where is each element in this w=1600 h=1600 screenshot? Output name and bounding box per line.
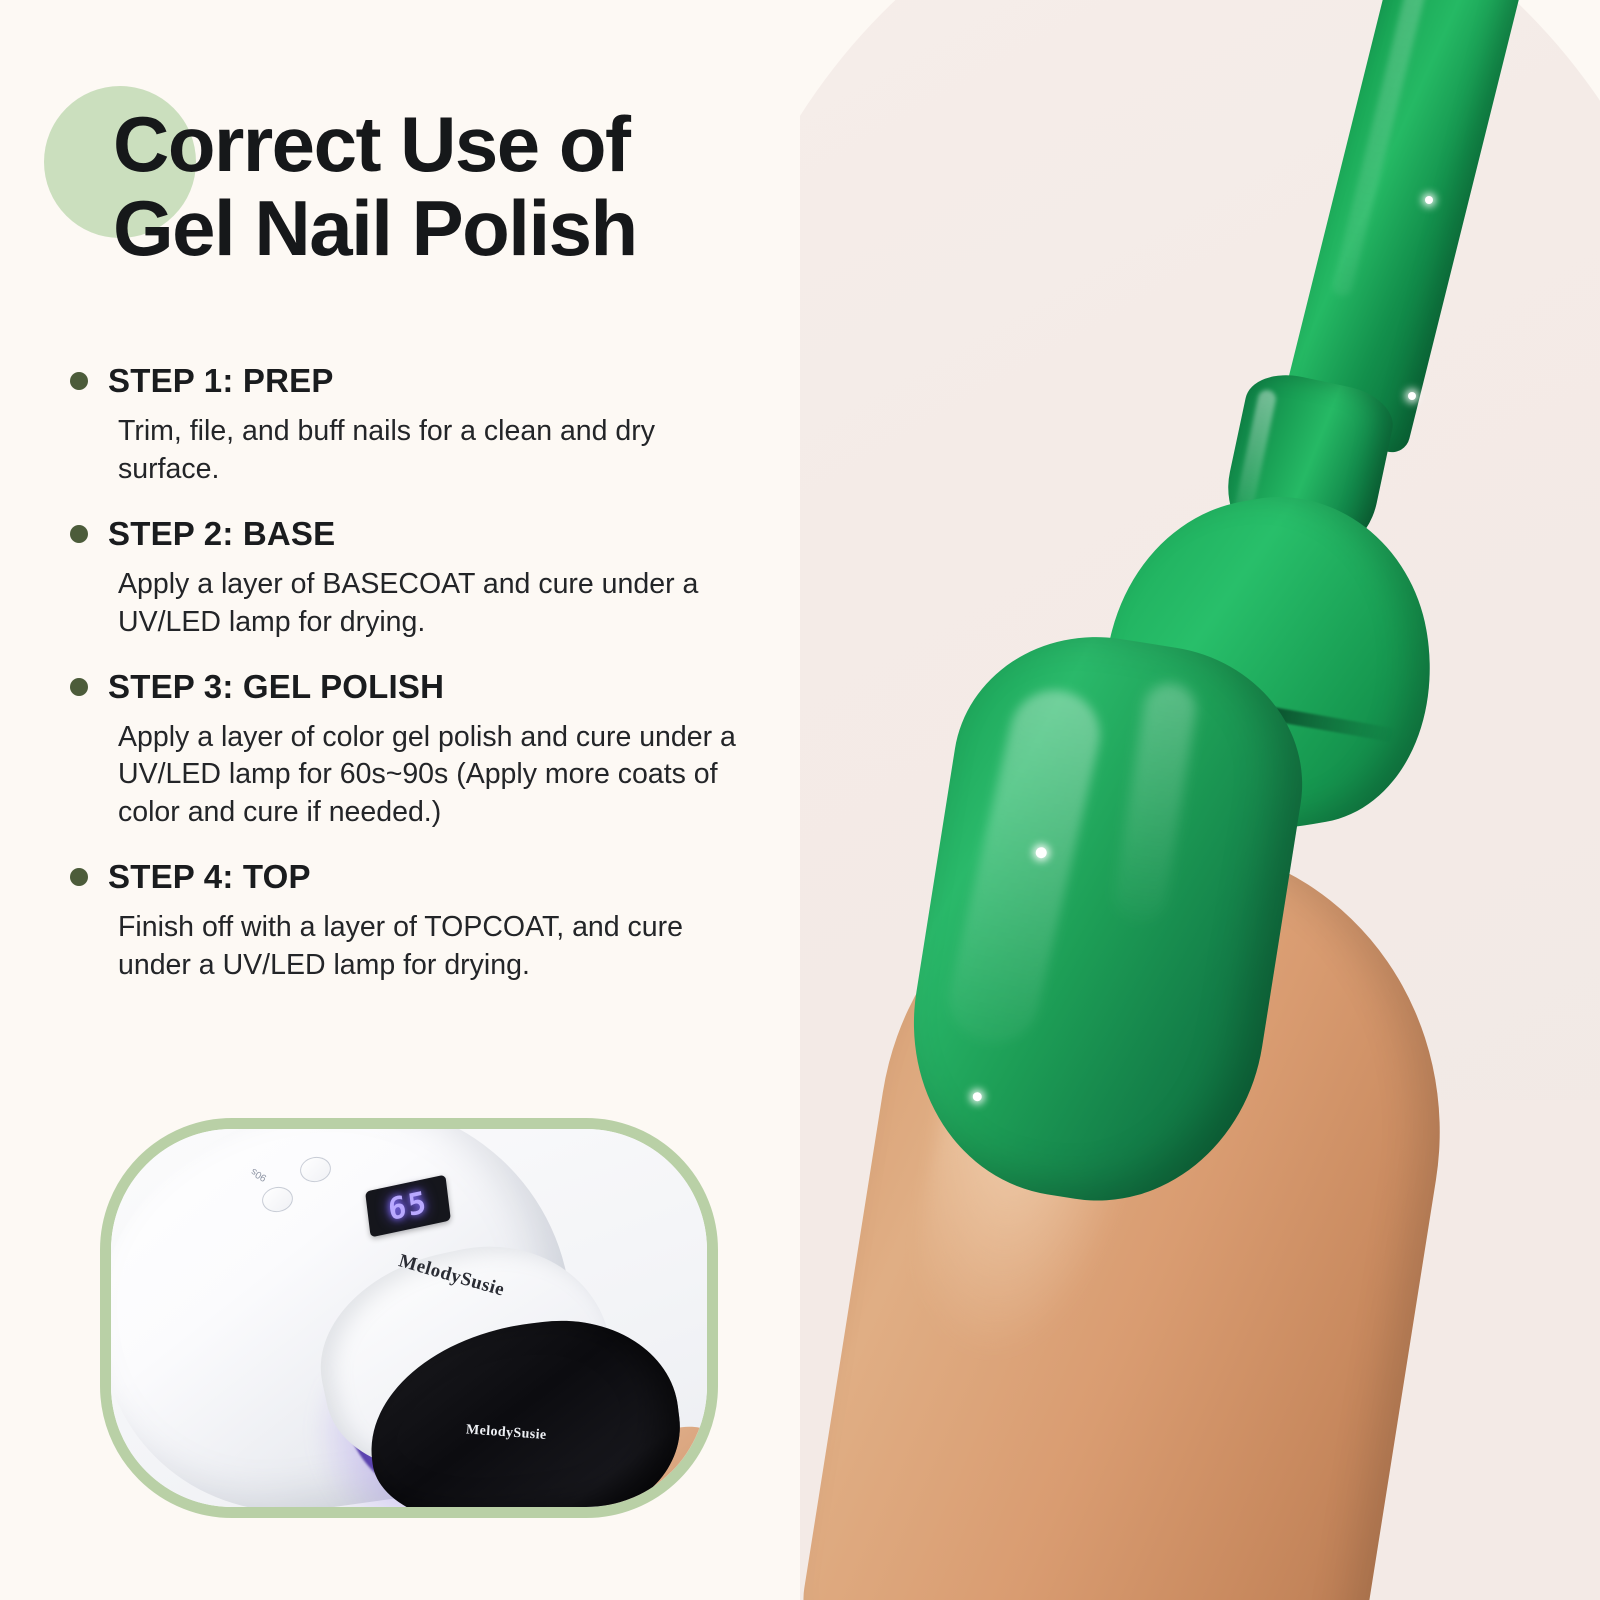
- brush-sparkle: [1408, 392, 1416, 400]
- uv-lamp-photo: 90s 65 MelodySusie MelodySusie: [111, 1129, 707, 1507]
- step-header: STEP 4: TOP: [70, 858, 770, 896]
- steps-list: STEP 1: PREP Trim, file, and buff nails …: [70, 362, 770, 1011]
- step-header: STEP 3: GEL POLISH: [70, 668, 770, 706]
- infographic-canvas: Correct Use ofGel Nail Polish STEP 1: PR…: [0, 0, 1600, 1600]
- page-title: Correct Use ofGel Nail Polish: [113, 102, 813, 270]
- step-description: Finish off with a layer of TOPCOAT, and …: [118, 909, 758, 985]
- bullet-icon: [70, 372, 88, 390]
- step-header: STEP 2: BASE: [70, 515, 770, 553]
- step-item: STEP 1: PREP Trim, file, and buff nails …: [70, 362, 770, 489]
- bullet-icon: [70, 678, 88, 696]
- step-item: STEP 3: GEL POLISH Apply a layer of colo…: [70, 668, 770, 833]
- lamp-display-value: 65: [386, 1184, 430, 1227]
- step-header: STEP 1: PREP: [70, 362, 770, 400]
- step-title: STEP 3: GEL POLISH: [108, 668, 444, 706]
- uv-lamp-photo-card: 90s 65 MelodySusie MelodySusie: [100, 1118, 718, 1518]
- step-item: STEP 2: BASE Apply a layer of BASECOAT a…: [70, 515, 770, 642]
- step-description: Apply a layer of BASECOAT and cure under…: [118, 566, 758, 642]
- step-title: STEP 4: TOP: [108, 858, 311, 896]
- nail-photo-panel: [800, 0, 1600, 1600]
- step-title: STEP 1: PREP: [108, 362, 334, 400]
- brush-sparkle: [1425, 196, 1433, 204]
- bullet-icon: [70, 868, 88, 886]
- glove-brand-logo: MelodySusie: [465, 1422, 547, 1444]
- bullet-icon: [70, 525, 88, 543]
- step-description: Apply a layer of color gel polish and cu…: [118, 719, 758, 833]
- nail-gloss-primary: [940, 681, 1109, 1052]
- step-description: Trim, file, and buff nails for a clean a…: [118, 413, 758, 489]
- step-item: STEP 4: TOP Finish off with a layer of T…: [70, 858, 770, 985]
- nail-gloss-secondary: [1111, 680, 1200, 925]
- nail-sparkle: [972, 1092, 982, 1102]
- step-title: STEP 2: BASE: [108, 515, 335, 553]
